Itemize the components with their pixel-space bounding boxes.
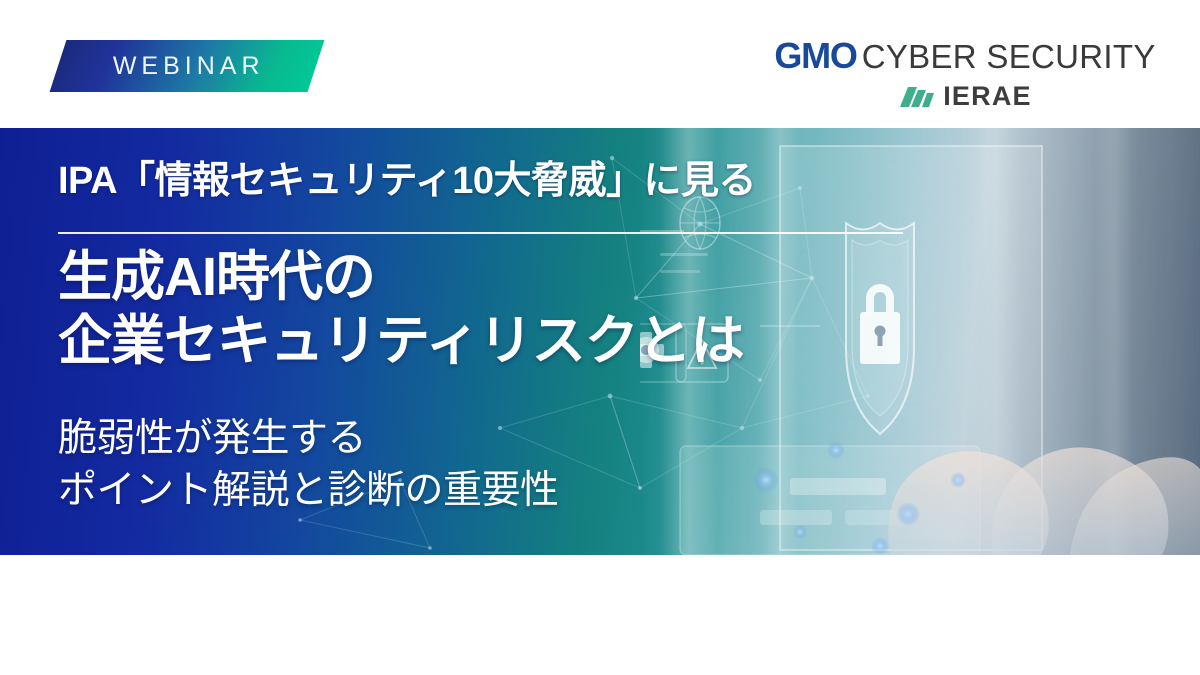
hero-kicker: IPA「情報セキュリティ10大脅威」に見る xyxy=(58,161,756,203)
hero-banner: IPA「情報セキュリティ10大脅威」に見る 生成AI時代の 企業セキュリティリス… xyxy=(0,128,1200,555)
hero-headline: 生成AI時代の 企業セキュリティリスクとは xyxy=(58,246,744,373)
hero-subheadline-line-2: ポイント解説と診断の重要性 xyxy=(58,465,559,517)
hero-subheadline-line-1: 脆弱性が発生する xyxy=(58,413,559,465)
header-bar: WEBINAR GMO CYBER SECURITY IERAE xyxy=(0,0,1200,128)
webinar-badge-label: WEBINAR xyxy=(109,54,265,79)
webinar-badge: WEBINAR xyxy=(50,40,325,92)
cyber-security-wordmark: CYBER SECURITY xyxy=(862,40,1156,73)
ierae-slashes-icon xyxy=(898,84,934,110)
footer-bar: 2026 3/13 金 12:00−13:00 マジ セミ xyxy=(0,555,1200,675)
gmo-wordmark: GMO xyxy=(774,38,856,74)
gmo-cyber-security-logo: GMO CYBER SECURITY IERAE xyxy=(770,38,1160,110)
ierae-wordmark: IERAE xyxy=(943,83,1032,110)
logo-secondary-row: IERAE xyxy=(898,83,1032,110)
hero-text-block: IPA「情報セキュリティ10大脅威」に見る 生成AI時代の 企業セキュリティリス… xyxy=(58,128,928,555)
hero-headline-line-2: 企業セキュリティリスクとは xyxy=(58,310,744,374)
hero-subheadline: 脆弱性が発生する ポイント解説と診断の重要性 xyxy=(58,413,559,517)
hero-divider-rule xyxy=(58,232,903,234)
hero-headline-line-1: 生成AI時代の xyxy=(58,246,744,310)
webinar-banner: WEBINAR GMO CYBER SECURITY IERAE xyxy=(0,0,1200,675)
logo-primary-row: GMO CYBER SECURITY xyxy=(774,38,1155,74)
